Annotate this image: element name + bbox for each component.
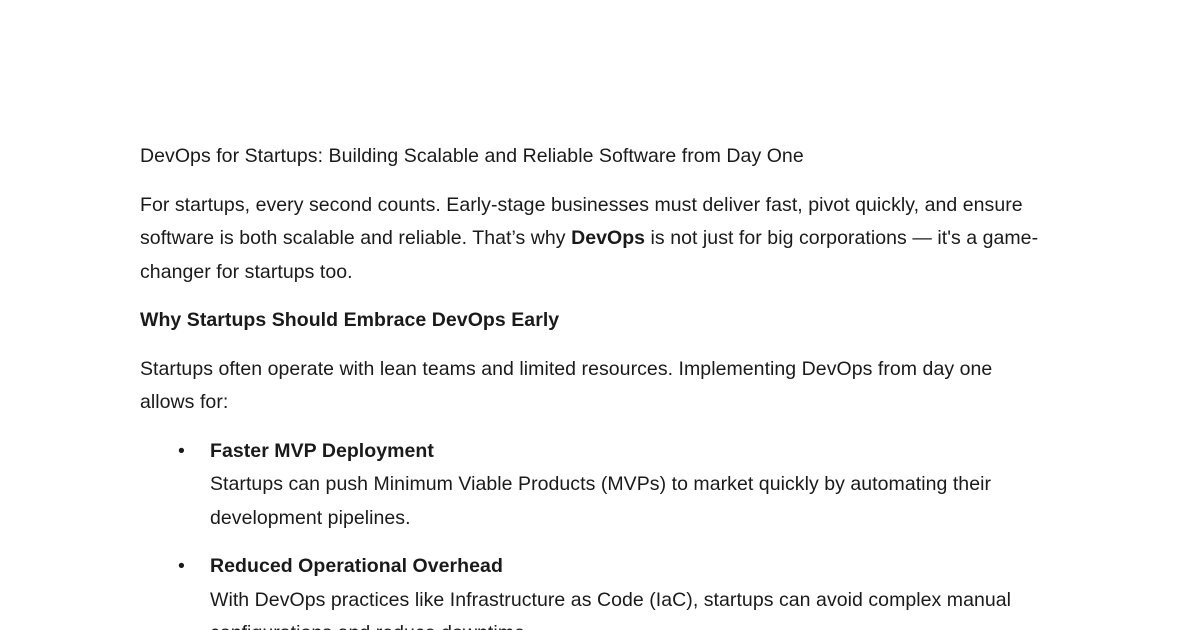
benefits-bullet-list: • Faster MVP Deployment Startups can pus… [140,435,1052,630]
document-title: DevOps for Startups: Building Scalable a… [140,140,1052,174]
section-heading: Why Startups Should Embrace DevOps Early [140,304,1052,338]
list-item: • Faster MVP Deployment Startups can pus… [140,435,1052,536]
bullet-point-icon: • [178,435,188,469]
list-item-term: Reduced Operational Overhead [210,550,1052,584]
bullet-point-icon: • [178,550,188,584]
document-page: DevOps for Startups: Building Scalable a… [0,0,1200,630]
list-item-description: With DevOps practices like Infrastructur… [210,584,1052,630]
list-item-term: Faster MVP Deployment [210,435,1052,469]
section-intro-paragraph: Startups often operate with lean teams a… [140,353,1052,420]
list-item-description: Startups can push Minimum Viable Product… [210,468,1052,535]
intro-paragraph: For startups, every second counts. Early… [140,189,1052,290]
intro-paragraph-bold-term: DevOps [571,227,645,249]
document-content: DevOps for Startups: Building Scalable a… [140,140,1052,630]
list-item: • Reduced Operational Overhead With DevO… [140,550,1052,630]
